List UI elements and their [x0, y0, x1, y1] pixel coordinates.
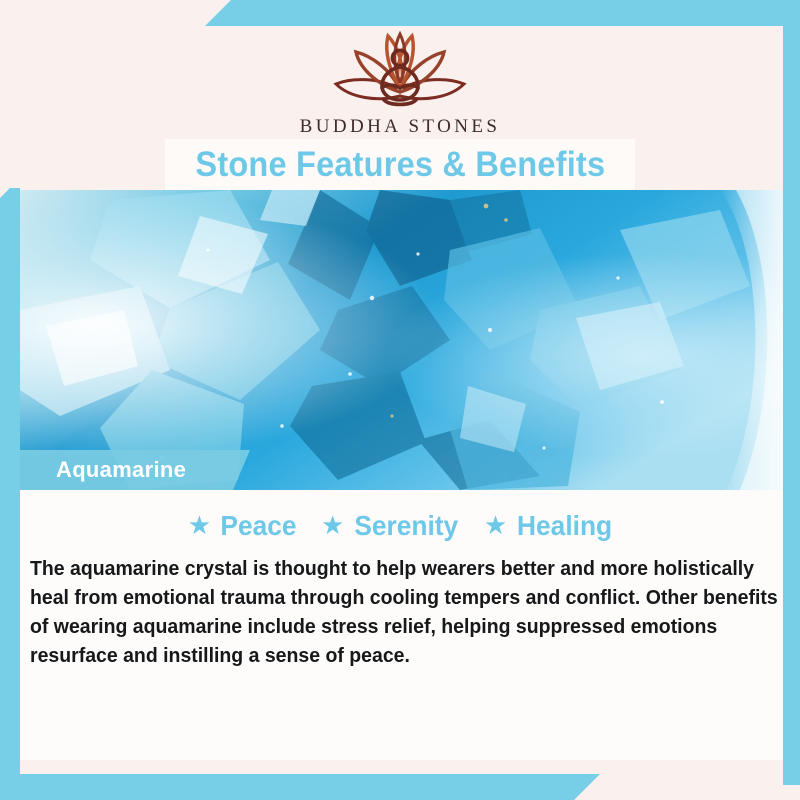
feature-label: Healing — [517, 510, 612, 542]
bottom-accent-band — [0, 774, 600, 800]
aquamarine-crystal-geode-photo — [20, 190, 783, 490]
feature-list: ★ Peace ★ Serenity ★ Healing — [20, 510, 783, 542]
star-icon: ★ — [484, 512, 507, 538]
feature-item-healing: ★ Healing — [484, 510, 615, 542]
stone-description: The aquamarine crystal is thought to hel… — [30, 554, 793, 670]
stone-name-text: Aquamarine — [56, 457, 186, 483]
stone-name-label: Aquamarine — [20, 450, 250, 490]
feature-item-serenity: ★ Serenity — [321, 510, 462, 542]
brand-logo-block: BUDDHA STONES — [240, 22, 560, 138]
page-title: Stone Features & Benefits — [195, 145, 605, 185]
content-panel: ★ Peace ★ Serenity ★ Healing The aquamar… — [20, 490, 783, 760]
brand-wordmark: BUDDHA STONES — [240, 116, 560, 138]
lotus-meditation-logo-icon — [316, 22, 484, 114]
feature-label: Serenity — [355, 510, 459, 542]
title-banner: Stone Features & Benefits — [165, 139, 635, 190]
feature-label: Peace — [220, 510, 296, 542]
infographic-card: BUDDHA STONES Stone Features & Benefits — [0, 0, 800, 800]
left-accent-band — [0, 188, 20, 785]
header: BUDDHA STONES — [0, 0, 800, 148]
star-icon: ★ — [188, 512, 211, 538]
star-icon: ★ — [321, 512, 344, 538]
hero-image — [20, 190, 783, 490]
feature-item-peace: ★ Peace — [188, 510, 299, 542]
